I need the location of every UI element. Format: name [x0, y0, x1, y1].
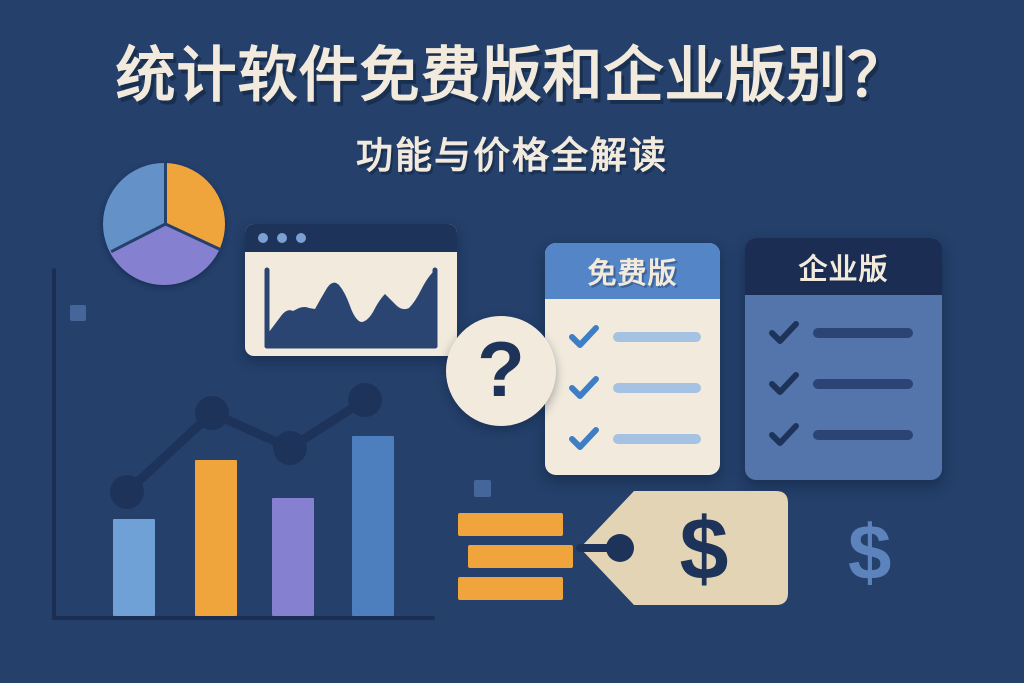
- bar-chart-bar: [113, 519, 155, 616]
- decorative-square: [474, 480, 491, 497]
- price-tag-icon: $: [576, 489, 791, 607]
- decorative-square: [70, 305, 86, 321]
- check-icon: [569, 325, 599, 349]
- dollar-ghost-icon: $: [848, 513, 891, 591]
- question-mark-glyph: ?: [477, 330, 525, 408]
- pie-slice-divider: [165, 223, 222, 251]
- price-tag-dollar-glyph: $: [680, 499, 729, 598]
- area-chart-fill: [269, 272, 433, 344]
- plan-card-title: 企业版: [798, 246, 888, 288]
- plan-card-header: 免费版: [545, 243, 720, 299]
- plan-card-body: [545, 299, 720, 451]
- page-title: 统计软件免费版和企业版别？: [0, 44, 1024, 107]
- check-icon: [569, 427, 599, 451]
- feature-row: [745, 372, 942, 396]
- line-chart-point: [110, 475, 144, 509]
- pie-chart: [103, 163, 225, 285]
- check-icon: [769, 423, 799, 447]
- line-chart-point: [273, 431, 307, 465]
- chart-y-axis: [52, 268, 56, 620]
- area-chart: [245, 252, 457, 356]
- orange-bar: [458, 577, 563, 600]
- plan-card-enterprise[interactable]: 企业版: [745, 238, 942, 480]
- browser-dot-icon[interactable]: [296, 233, 306, 243]
- line-chart-path: [127, 400, 365, 492]
- poster-canvas: 统计软件免费版和企业版别？ 功能与价格全解读: [0, 0, 1024, 683]
- question-mark-icon: ?: [446, 316, 556, 426]
- feature-row: [545, 427, 720, 451]
- feature-row: [545, 325, 720, 349]
- feature-line: [813, 328, 913, 338]
- plan-card-title: 免费版: [587, 250, 677, 292]
- feature-line: [613, 434, 701, 444]
- orange-bar-group: [458, 513, 573, 609]
- plan-card-header: 企业版: [745, 238, 942, 295]
- check-icon: [769, 372, 799, 396]
- orange-bar: [458, 513, 563, 536]
- feature-line: [813, 430, 913, 440]
- check-icon: [769, 321, 799, 345]
- feature-row: [745, 321, 942, 345]
- line-chart-point: [195, 396, 229, 430]
- orange-bar: [468, 545, 573, 568]
- title-block: 统计软件免费版和企业版别？ 功能与价格全解读: [0, 44, 1024, 179]
- pie-slice-divider: [164, 163, 167, 224]
- check-icon: [569, 376, 599, 400]
- feature-row: [545, 376, 720, 400]
- chart-x-axis: [52, 616, 435, 620]
- line-chart: [95, 380, 395, 520]
- browser-title-bar: [245, 224, 457, 252]
- browser-dot-icon[interactable]: [277, 233, 287, 243]
- plan-card-body: [745, 295, 942, 447]
- browser-dot-icon[interactable]: [258, 233, 268, 243]
- feature-line: [813, 379, 913, 389]
- pie-slice-divider: [110, 223, 166, 253]
- feature-row: [745, 423, 942, 447]
- feature-line: [613, 332, 701, 342]
- feature-line: [613, 383, 701, 393]
- price-tag-string: [576, 544, 622, 552]
- browser-window: [245, 224, 457, 356]
- plan-card-free[interactable]: 免费版: [545, 243, 720, 475]
- line-chart-point: [348, 383, 382, 417]
- browser-content: [245, 252, 457, 356]
